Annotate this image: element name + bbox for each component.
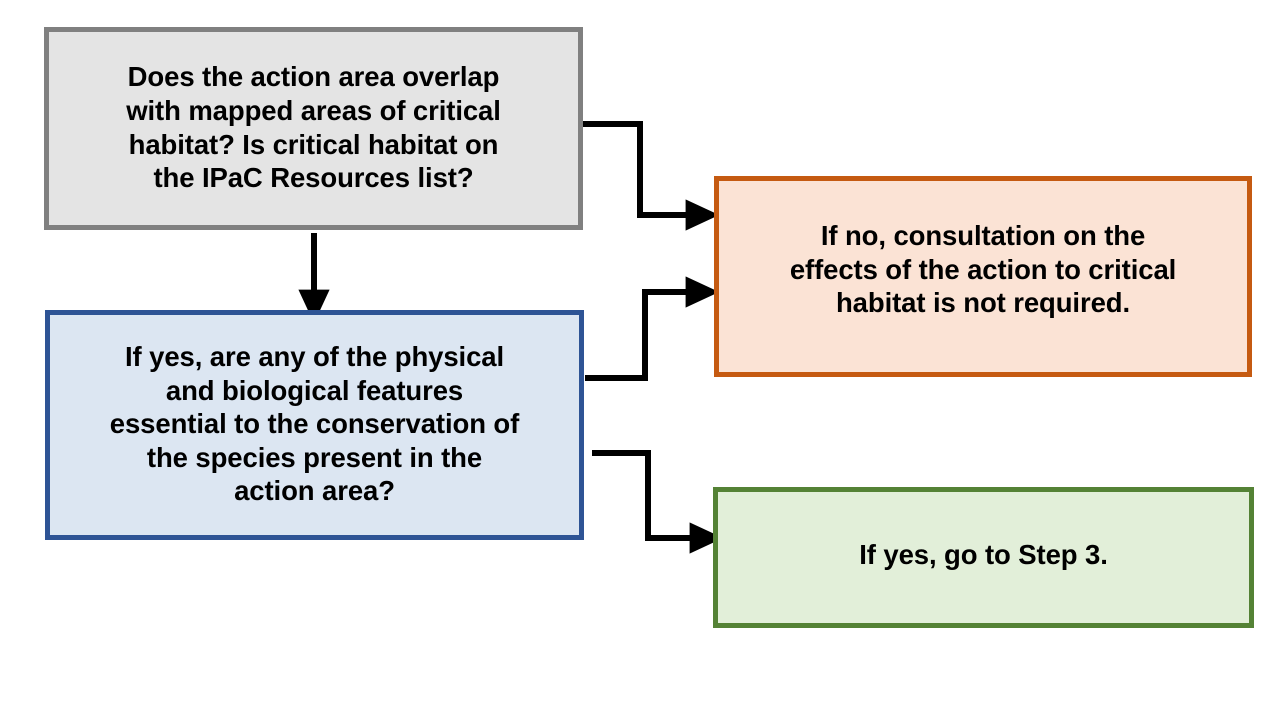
node-question-pbf-label: If yes, are any of the physical and biol… [62,340,567,508]
node-outcome-yes[interactable]: If yes, go to Step 3. [713,487,1254,628]
node-outcome-yes-label: If yes, go to Step 3. [734,538,1233,572]
node-outcome-no[interactable]: If no, consultation on the effects of th… [714,176,1252,377]
node-outcome-no-label: If no, consultation on the effects of th… [735,219,1231,320]
arrow-overlap-to-outcome-no [583,124,688,215]
node-question-overlap[interactable]: Does the action area overlap with mapped… [44,27,583,230]
node-question-overlap-label: Does the action area overlap with mapped… [65,60,562,194]
arrow-pbf-to-outcome-yes [592,453,692,538]
node-question-pbf[interactable]: If yes, are any of the physical and biol… [45,310,584,540]
arrow-pbf-to-outcome-no [585,292,688,378]
